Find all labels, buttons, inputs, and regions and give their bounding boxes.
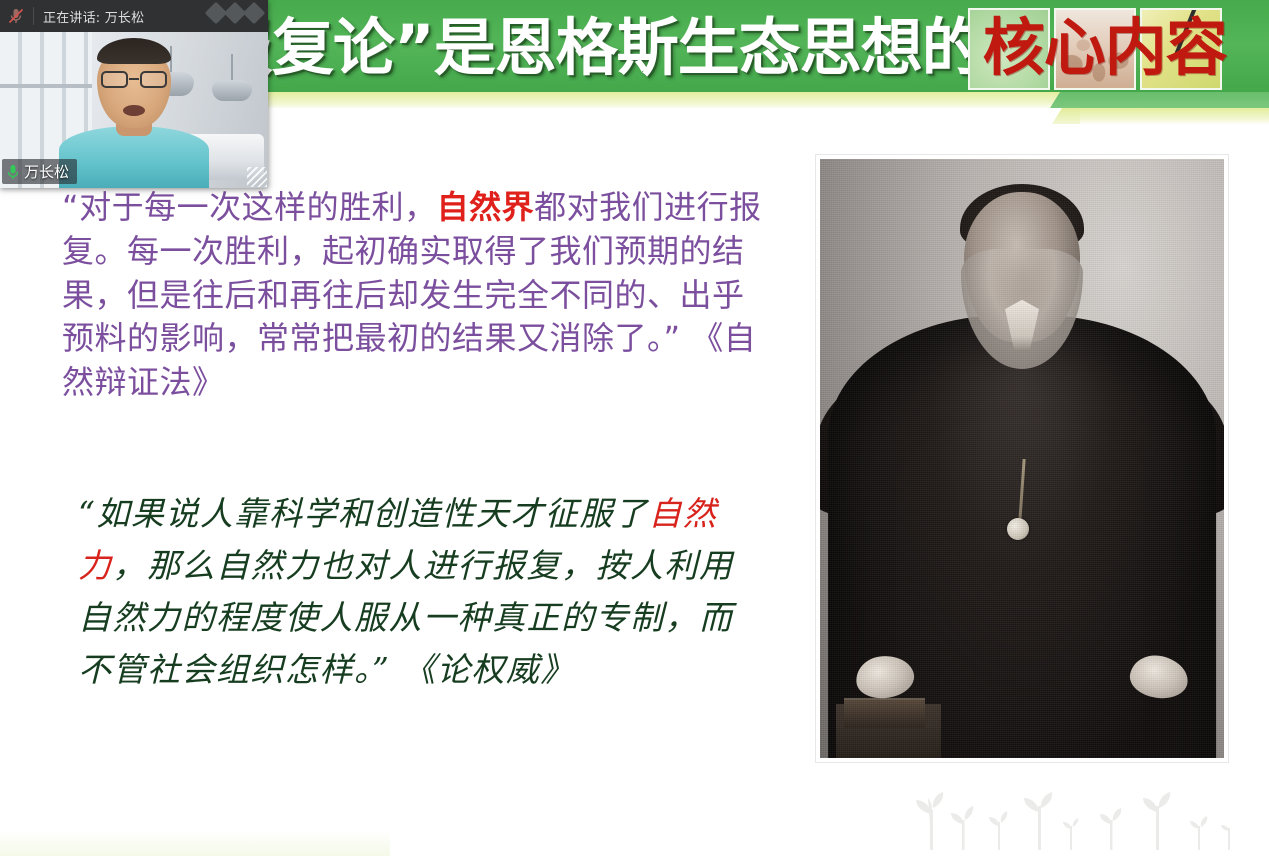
title-band-right-green: [1080, 92, 1269, 108]
page-title-accent: 核心内容: [983, 17, 1227, 79]
video-conference-panel[interactable]: 正在讲话: 万长松: [0, 0, 268, 188]
title-band-right-yellow: [1080, 108, 1269, 124]
titlebar-decoration-icon: [208, 5, 262, 21]
speaking-now-label: 正在讲话: 万长松: [43, 7, 144, 26]
mic-on-icon: [6, 164, 20, 180]
quote-engels-dialectics: “对于每一次这样的胜利，自然界都对我们进行报复。每一次胜利，起初确实取得了我们预…: [62, 186, 762, 405]
quote2-part2: ，那么自然力也对人进行报复，按人利用自然力的程度使人服从一种真正的专制，而不管社…: [78, 546, 734, 689]
quote1-part1: “对于每一次这样的胜利，: [62, 188, 437, 226]
slide-stage: 然报复论”是恩格斯生态思想的 核心内容 “对于每一次这样的胜利，自然界都对我们进…: [0, 0, 1269, 856]
participant-glasses: [101, 71, 167, 88]
titlebar-divider: [33, 7, 34, 25]
video-panel-titlebar[interactable]: 正在讲话: 万长松: [0, 0, 268, 32]
engels-portrait-frame: [816, 155, 1228, 762]
pendant-lamp-icon: [212, 80, 252, 101]
participant-mouth: [123, 105, 145, 116]
video-feed[interactable]: 万长松: [0, 32, 268, 188]
panel-resize-handle[interactable]: [247, 167, 267, 187]
page-title: 然报复论”是恩格斯生态思想的 核心内容: [150, 8, 1260, 88]
quote-on-authority: “如果说人靠科学和创造性天才征服了自然力，那么自然力也对人进行报复，按人利用自然…: [78, 488, 738, 697]
quote1-highlight: 自然界: [437, 188, 535, 226]
page-title-main: 然报复论”是恩格斯生态思想的: [150, 17, 983, 79]
engels-portrait-image: [820, 159, 1224, 758]
portrait-film-grain: [820, 159, 1224, 758]
quote2-part1: “如果说人靠科学和创造性天才征服了: [78, 494, 648, 533]
participant-nameplate: 万长松: [2, 159, 77, 184]
participant-name: 万长松: [24, 161, 69, 182]
sprout-watermark-icon: [900, 788, 1250, 850]
participant-video-avatar: [59, 62, 209, 188]
mic-muted-icon[interactable]: [6, 6, 26, 26]
